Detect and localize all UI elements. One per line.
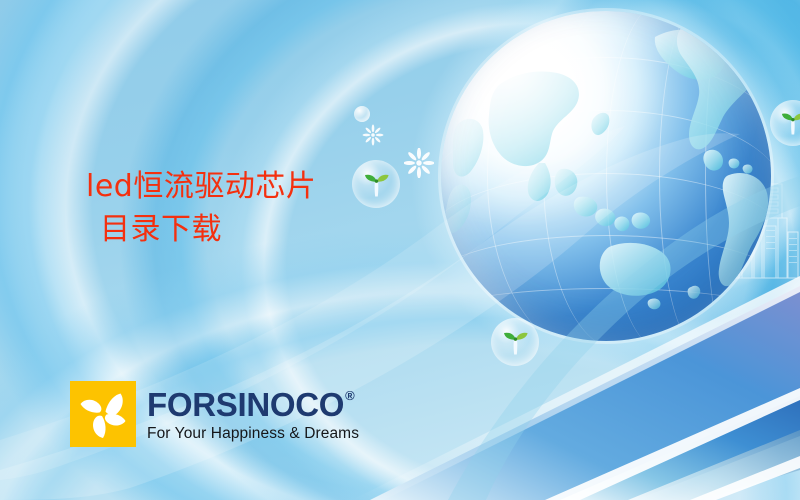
registered-trademark-icon: ® — [345, 389, 354, 402]
globe-sphere — [441, 11, 771, 341]
asterisk-sparkle-icon-2 — [404, 148, 434, 178]
bubble-with-green-leaf-icon-2 — [491, 318, 539, 366]
headline-line-2: 目录下载 — [86, 209, 316, 252]
green-sprout-icon-3 — [780, 110, 800, 136]
four-petal-pinwheel-icon — [70, 381, 136, 447]
pinwheel-petals — [70, 381, 136, 447]
headline-line-1: led恒流驱动芯片 — [86, 169, 316, 204]
asterisk-sparkle-icon-1 — [362, 124, 384, 146]
banner-image: led恒流驱动芯片 目录下载 FORSINOCO ® For Your Happ… — [0, 0, 800, 500]
logo-tagline: For Your Happiness & Dreams — [147, 425, 359, 443]
logo-wordmark: FORSINOCO — [147, 388, 344, 421]
globe-continents — [441, 11, 771, 341]
earth-globe-icon — [441, 11, 771, 341]
bubble-with-green-leaf-icon-1 — [352, 160, 400, 208]
small-bubble-icon — [354, 106, 370, 122]
green-sprout-icon-2 — [502, 329, 529, 356]
headline-text: led恒流驱动芯片 目录下载 — [86, 166, 316, 251]
logo-text-block: FORSINOCO ® For Your Happiness & Dreams — [147, 381, 359, 443]
company-logo: FORSINOCO ® For Your Happiness & Dreams — [70, 381, 359, 447]
green-sprout-icon-1 — [363, 171, 390, 198]
logo-wordmark-row: FORSINOCO ® — [147, 388, 359, 421]
